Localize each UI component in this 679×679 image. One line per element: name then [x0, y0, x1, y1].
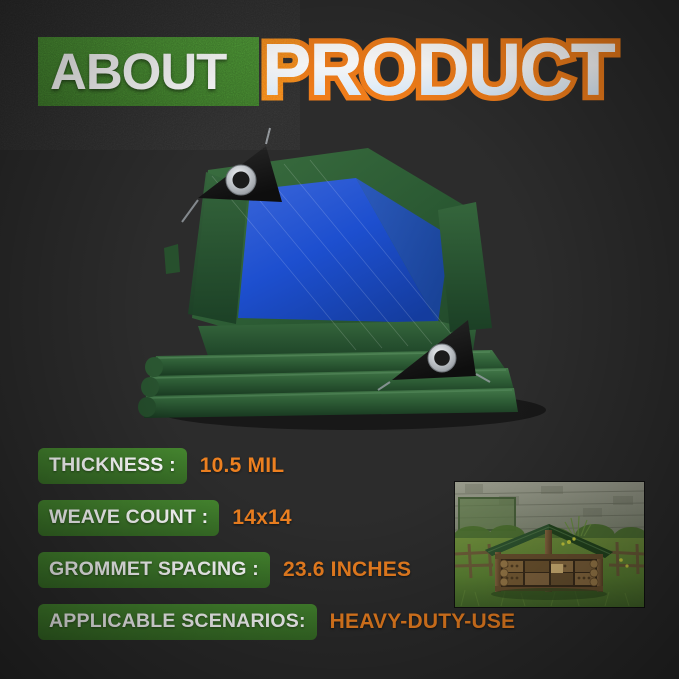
usage-scene-photo	[455, 482, 644, 607]
about-heading: ABOUT	[50, 37, 258, 106]
spec-label-thickness: THICKNESS :	[38, 448, 187, 484]
spec-value-thickness: 10.5 MIL	[200, 454, 284, 478]
product-heading: PRODUCT PRODUCT	[262, 22, 614, 118]
garden-insect-hotel-illustration	[455, 482, 644, 607]
product-photo-folded-tarp	[120, 118, 570, 430]
spec-value-applicable-scenarios: HEAVY-DUTY-USE	[330, 610, 516, 634]
header-banner: ABOUT PRODUCT PRODUCT	[0, 0, 679, 125]
spec-label-applicable-scenarios: APPLICABLE SCENARIOS:	[38, 604, 317, 640]
spec-label-weave-count: WEAVE COUNT :	[38, 500, 219, 536]
spec-value-grommet-spacing: 23.6 INCHES	[283, 558, 411, 582]
product-heading-fill: PRODUCT	[262, 28, 614, 111]
spec-label-grommet-spacing: GROMMET SPACING :	[38, 552, 270, 588]
folded-tarp-illustration	[120, 118, 570, 430]
about-product-infographic: ABOUT PRODUCT PRODUCT	[0, 0, 679, 679]
spec-value-weave-count: 14x14	[232, 506, 291, 530]
